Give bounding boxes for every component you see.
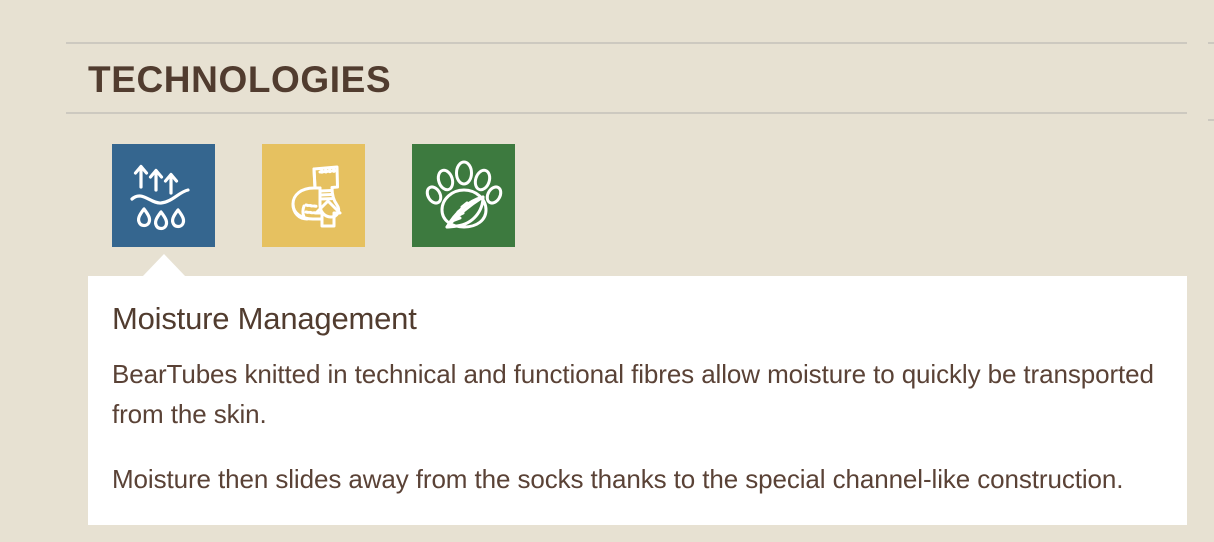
panel-title: Moisture Management — [112, 300, 1157, 337]
paw-leaf-icon — [425, 157, 503, 235]
technology-tile-sock-fit[interactable] — [262, 144, 365, 247]
panel-paragraph-1: BearTubes knitted in technical and funct… — [112, 355, 1157, 434]
sock-arrow-icon — [275, 157, 353, 235]
panel-content: Moisture Management BearTubes knitted in… — [88, 276, 1187, 500]
technology-tile-moisture-management[interactable] — [112, 144, 215, 247]
page-title: TECHNOLOGIES — [66, 44, 1187, 112]
section-divider-bottom-right-column — [1208, 119, 1214, 121]
panel-pointer — [142, 254, 186, 277]
section-divider-bottom — [66, 112, 1187, 114]
technology-tile-list — [112, 144, 515, 247]
technologies-page: TECHNOLOGIES — [0, 0, 1214, 542]
panel-paragraph-2: Moisture then slides away from the socks… — [112, 460, 1157, 500]
technology-detail-panel: Moisture Management BearTubes knitted in… — [88, 276, 1187, 525]
technology-tile-natural-fibres[interactable] — [412, 144, 515, 247]
moisture-wicking-icon — [125, 157, 203, 235]
technologies-section: TECHNOLOGIES — [66, 42, 1187, 114]
section-divider-top-right-column — [1208, 42, 1214, 44]
